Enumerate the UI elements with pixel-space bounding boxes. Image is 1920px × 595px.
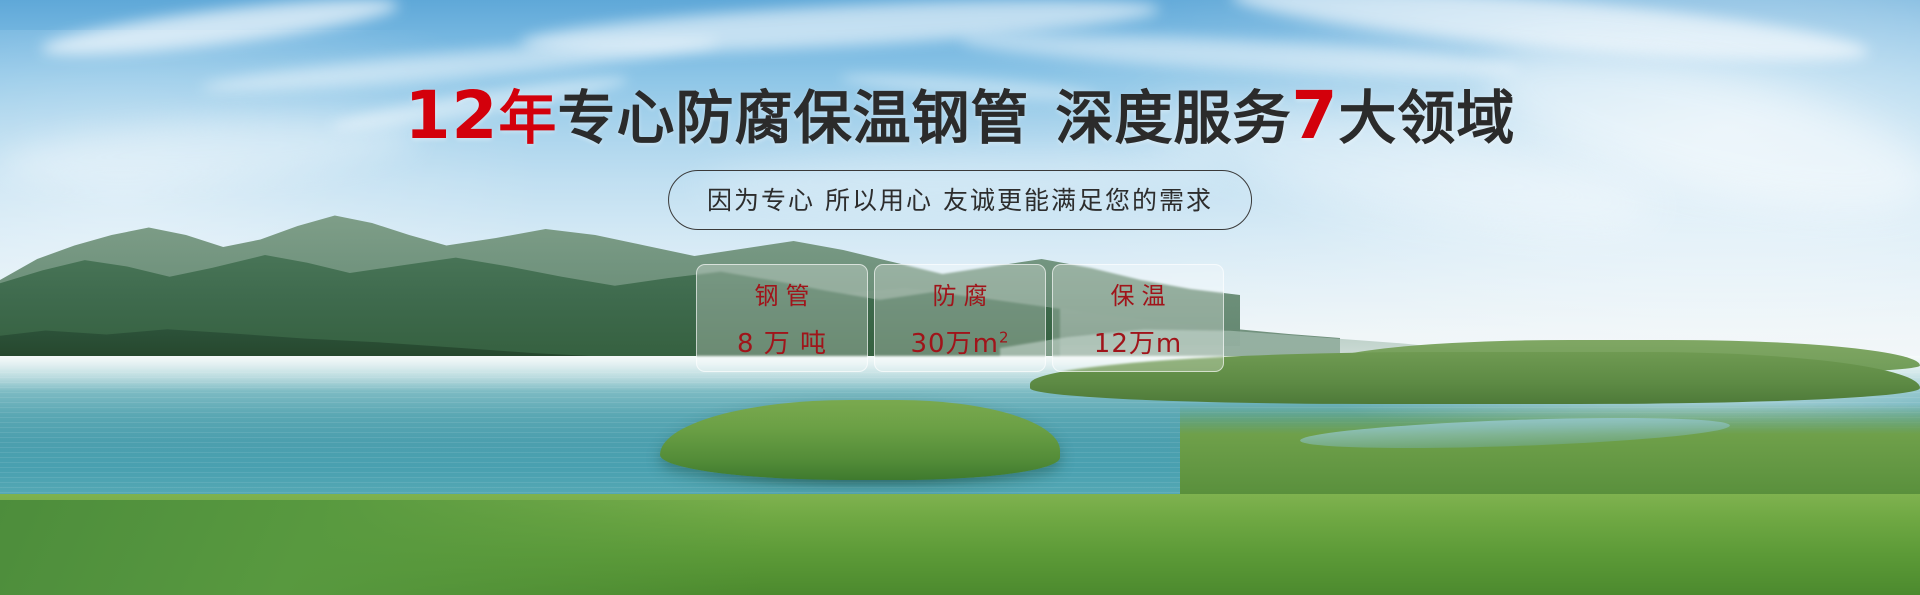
stat-label: 保温 [1104,276,1173,311]
stat-value-text: 8 万 吨 [737,329,827,359]
headline-fields-number: 7 [1291,77,1338,154]
headline-part-two-b: 大领域 [1338,84,1515,152]
headline-years-number: 12 [405,77,499,154]
banner-headline: 12年专心防腐保温钢管深度服务7大领域 [0,86,1920,148]
stat-card-anticorrosion: 防腐 30万m2 [874,264,1046,372]
stat-value: 8 万 吨 [737,323,827,360]
banner-subtitle-text: 因为专心 所以用心 友诚更能满足您的需求 [707,186,1213,215]
stat-label: 钢管 [748,276,817,311]
stat-value-exponent: 2 [999,328,1010,346]
headline-part-two-a: 深度服务 [1055,84,1291,152]
stat-value: 30万m2 [911,323,1010,360]
headline-years-unit: 年 [498,84,557,152]
grass-shadow-left [0,500,760,595]
stat-card-steel-pipe: 钢管 8 万 吨 [696,264,868,372]
stat-card-group: 钢管 8 万 吨 防腐 30万m2 保温 12万m [696,264,1224,372]
stat-value-text: 12万m [1094,329,1182,359]
stat-value: 12万m [1094,323,1182,360]
stat-value-text: 30万m [911,329,999,359]
hero-banner: 12年专心防腐保温钢管深度服务7大领域 因为专心 所以用心 友诚更能满足您的需求… [0,0,1920,595]
stat-label: 防腐 [926,276,995,311]
banner-subtitle-pill: 因为专心 所以用心 友诚更能满足您的需求 [668,170,1252,230]
stat-card-insulation: 保温 12万m [1052,264,1224,372]
headline-part-one: 专心防腐保温钢管 [557,84,1029,152]
